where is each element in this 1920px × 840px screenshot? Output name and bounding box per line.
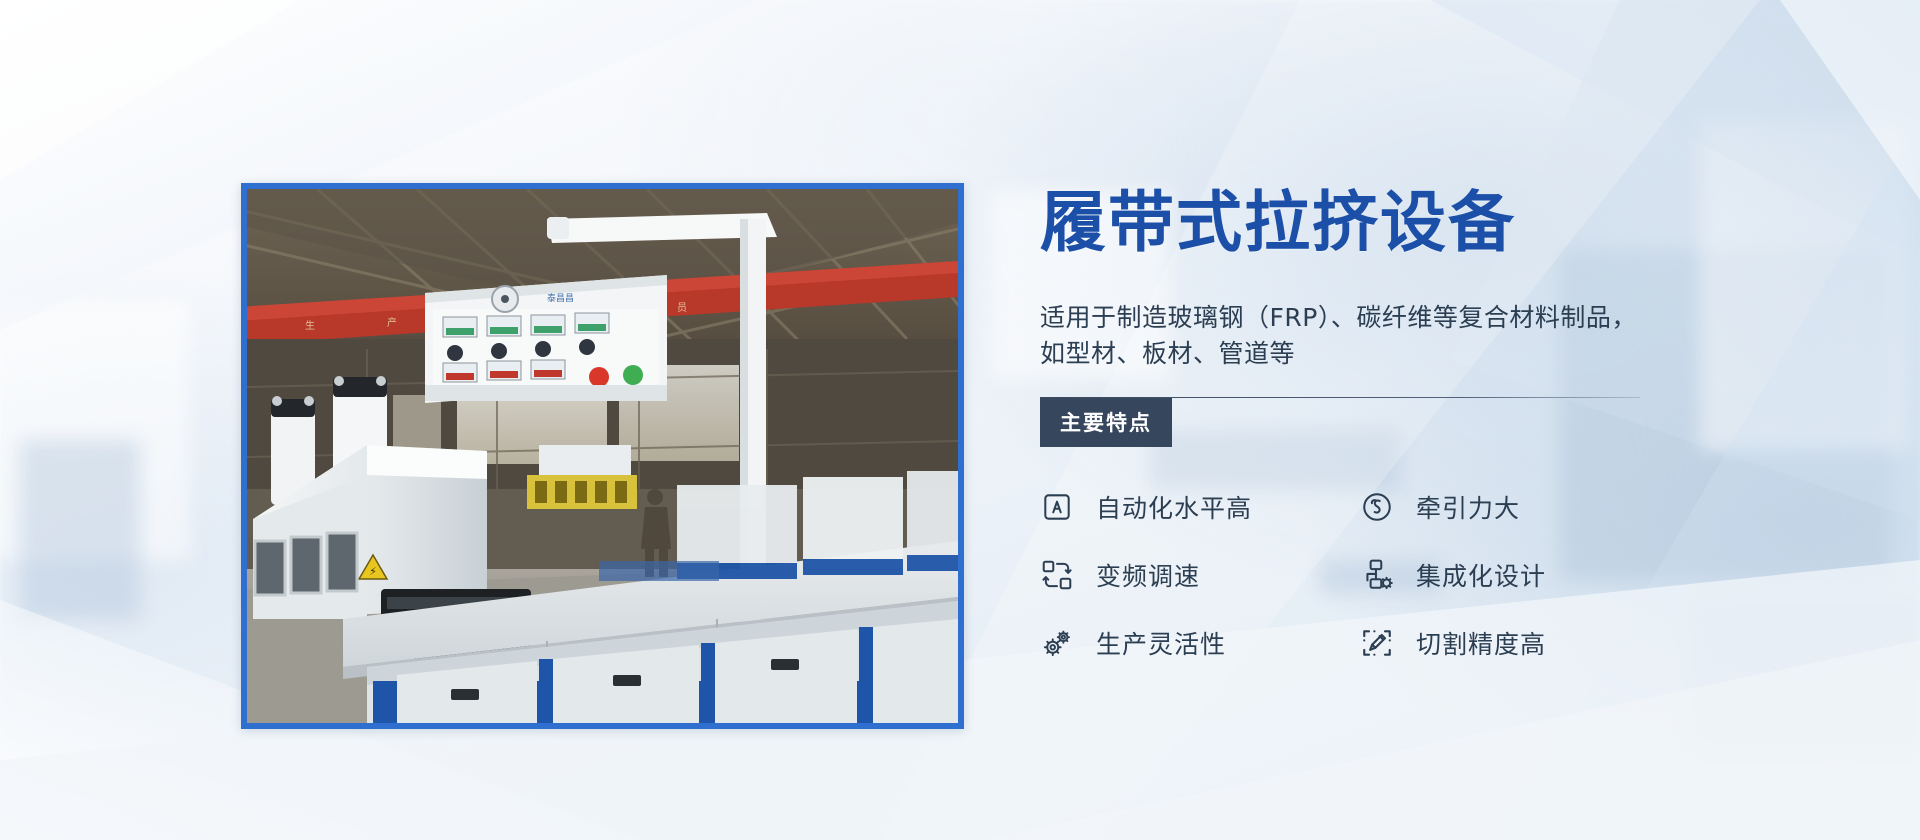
- banner-stage: 生产 安产 管理员: [0, 0, 1920, 840]
- gears-flexibility-icon: [1040, 626, 1074, 660]
- svg-text:员: 员: [677, 302, 687, 314]
- feature-item-precision[interactable]: 切割精度高: [1360, 625, 1680, 661]
- svg-text:产: 产: [387, 316, 397, 329]
- frequency-transform-icon: [1040, 558, 1074, 592]
- banner-content: 履带式拉挤设备 适用于制造玻璃钢（FRP）、碳纤维等复合材料制品，如型材、板材、…: [1040, 190, 1680, 661]
- feature-item-automation[interactable]: 自动化水平高: [1040, 489, 1360, 525]
- precision-pen-dashed-icon: [1360, 626, 1394, 660]
- svg-text:生: 生: [305, 319, 315, 332]
- feature-list: 自动化水平高 牵引力大: [1040, 489, 1680, 661]
- product-photo: 生产 安产 管理员: [247, 189, 958, 723]
- product-photo-card[interactable]: 生产 安产 管理员: [241, 183, 964, 729]
- page-subtitle: 适用于制造玻璃钢（FRP）、碳纤维等复合材料制品，如型材、板材、管道等: [1040, 300, 1640, 371]
- feature-label: 牵引力大: [1416, 489, 1520, 525]
- photo-illustration: 生产 安产 管理员: [247, 189, 958, 723]
- feature-item-traction[interactable]: 牵引力大: [1360, 489, 1680, 525]
- svg-text:⚡: ⚡: [369, 565, 377, 578]
- svg-text:泰昌昌: 泰昌昌: [547, 292, 574, 304]
- feature-label: 切割精度高: [1416, 625, 1546, 661]
- section-divider-row: 主要特点: [1040, 397, 1680, 441]
- feature-label: 自动化水平高: [1096, 489, 1252, 525]
- automation-square-a-icon: [1040, 490, 1074, 524]
- traction-circle-icon: [1360, 490, 1394, 524]
- feature-label: 变频调速: [1096, 557, 1200, 593]
- feature-label: 集成化设计: [1416, 557, 1546, 593]
- feature-item-flexibility[interactable]: 生产灵活性: [1040, 625, 1360, 661]
- status-badge: 主要特点: [1040, 398, 1172, 447]
- feature-label: 生产灵活性: [1096, 625, 1226, 661]
- integration-hierarchy-gear-icon: [1360, 558, 1394, 592]
- feature-item-integration[interactable]: 集成化设计: [1360, 557, 1680, 593]
- page-title: 履带式拉挤设备: [1040, 190, 1680, 256]
- feature-item-frequency[interactable]: 变频调速: [1040, 557, 1360, 593]
